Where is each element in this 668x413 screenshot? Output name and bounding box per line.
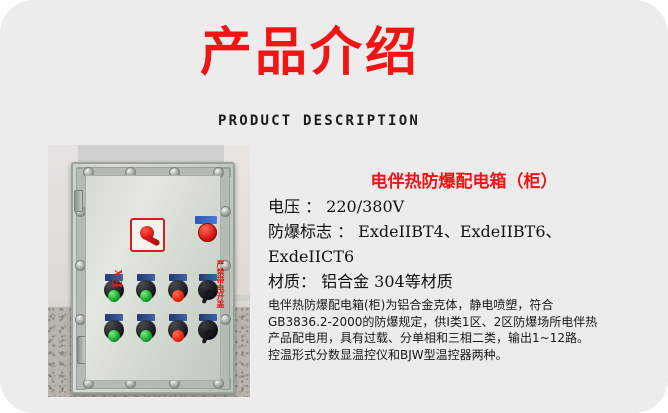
indicator-light-green[interactable] bbox=[104, 314, 124, 340]
spec-material: 材质： 铝合金 304等材质 bbox=[268, 269, 660, 294]
cabinet-body: Ex 严禁带电开盖 bbox=[71, 162, 235, 394]
product-info: 电伴热防爆配电箱（柜） 电压 ： 220/380V 防爆标志 ： ExdeIIB… bbox=[268, 170, 660, 363]
product-photo: Ex 严禁带电开盖 bbox=[48, 145, 250, 397]
control-cap bbox=[168, 320, 188, 340]
cabinet-hinge bbox=[74, 190, 83, 212]
cabinet-ex-mark: Ex bbox=[110, 268, 127, 288]
spec-voltage: 电压 ： 220/380V bbox=[268, 194, 660, 219]
product-name: 电伴热防爆配电箱（柜） bbox=[268, 170, 660, 194]
lamp-green-icon bbox=[108, 330, 120, 342]
header: 产品介绍 PRODUCT DESCRIPTION bbox=[0, 0, 668, 145]
control-cap bbox=[104, 320, 124, 340]
emergency-stop-button[interactable] bbox=[198, 223, 217, 242]
indicator-light-green[interactable] bbox=[136, 274, 156, 300]
description-line: 产品配电用，具有过载、分单相和三相二类，输出1~12路。 bbox=[268, 330, 660, 347]
rotary-switch[interactable] bbox=[130, 218, 165, 252]
cabinet-door: Ex bbox=[85, 175, 221, 381]
indicator-light-red[interactable] bbox=[168, 314, 188, 340]
page-subtitle: PRODUCT DESCRIPTION bbox=[218, 112, 420, 130]
control-cap bbox=[136, 280, 156, 300]
cabinet-bolt bbox=[220, 206, 231, 217]
rotary-switch-lever-icon bbox=[145, 234, 161, 246]
product-description-page: 产品介绍 PRODUCT DESCRIPTION bbox=[0, 0, 668, 413]
lamp-green-icon bbox=[140, 290, 152, 302]
control-cap bbox=[198, 320, 218, 340]
selector-knob[interactable] bbox=[198, 314, 218, 340]
description-line: 电伴热防爆配电箱(柜)为铝合金克体，静电喷塑，符合 bbox=[268, 297, 660, 314]
indicator-light-red[interactable] bbox=[168, 274, 188, 300]
spec-ex-mark-line1: 防爆标志 ： ExdeIIBT4、ExdeIIBT6、 bbox=[268, 219, 660, 244]
spec-ex-mark-line2: ExdeIICT6 bbox=[268, 244, 660, 269]
description-line: 控温形式分数显温控仪和BJW型温控器两种。 bbox=[268, 347, 660, 364]
product-description: 电伴热防爆配电箱(柜)为铝合金克体，静电喷塑，符合 GB3836.2-2000的… bbox=[268, 297, 660, 363]
lamp-green-icon bbox=[140, 330, 152, 342]
control-cap bbox=[168, 280, 188, 300]
lamp-red-icon bbox=[172, 330, 184, 342]
lamp-red-icon bbox=[172, 290, 184, 302]
cabinet-warning-text: 严禁带电开盖 bbox=[214, 260, 225, 308]
indicator-light-green[interactable] bbox=[136, 314, 156, 340]
description-line: GB3836.2-2000的防爆规定，供I类1区、2区防爆场所电伴热 bbox=[268, 314, 660, 331]
page-title: 产品介绍 bbox=[200, 24, 420, 82]
lamp-green-icon bbox=[108, 290, 120, 302]
control-cap bbox=[136, 320, 156, 340]
cabinet-bolt bbox=[220, 314, 231, 325]
